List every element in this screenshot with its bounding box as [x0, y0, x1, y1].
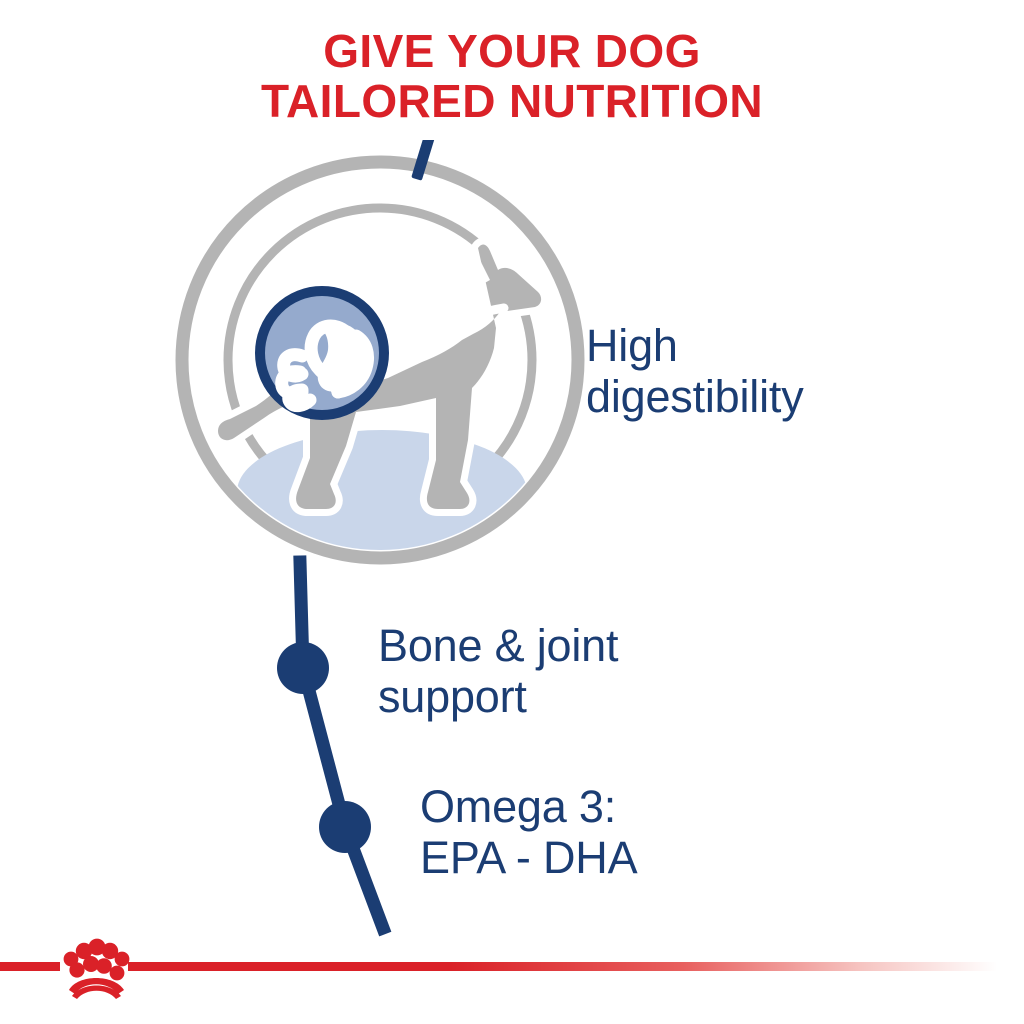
crown-dot-top-5	[115, 952, 130, 967]
connector-dot-1	[277, 642, 329, 694]
crown-dot-mid-3	[96, 958, 112, 974]
page-title: GIVE YOUR DOG TAILORED NUTRITION	[0, 26, 1024, 126]
benefit-connector-line	[250, 540, 470, 950]
footer-brand-bar	[0, 924, 1024, 1024]
red-rule-left	[0, 962, 60, 971]
connector-dot-2	[319, 801, 371, 853]
royal-canin-crown-logo	[62, 930, 130, 1000]
benefit-bone-and-joint-support-line-1: Bone & joint	[378, 620, 778, 671]
benefit-omega-3: Omega 3: EPA - DHA	[420, 781, 820, 883]
benefit-bone-and-joint-support: Bone & joint support	[378, 620, 778, 722]
red-rule-right	[128, 962, 1024, 971]
dog-digestive-health-icon	[160, 140, 600, 580]
page-title-line-2: TAILORED NUTRITION	[0, 76, 1024, 126]
benefit-omega-3-line-2: EPA - DHA	[420, 832, 820, 883]
benefit-omega-3-line-1: Omega 3:	[420, 781, 820, 832]
benefit-high-digestibility: High digestibility	[586, 320, 1006, 422]
poster-canvas: GIVE YOUR DOG TAILORED NUTRITION	[0, 0, 1024, 1024]
connector-path	[300, 562, 383, 928]
crown-dot-mid-1	[69, 962, 84, 977]
benefit-high-digestibility-line-2: digestibility	[586, 371, 1006, 422]
crown-dot-mid-4	[110, 966, 125, 981]
page-title-line-1: GIVE YOUR DOG	[0, 26, 1024, 76]
benefit-bone-and-joint-support-line-2: support	[378, 671, 778, 722]
benefit-high-digestibility-line-1: High	[586, 320, 1006, 371]
